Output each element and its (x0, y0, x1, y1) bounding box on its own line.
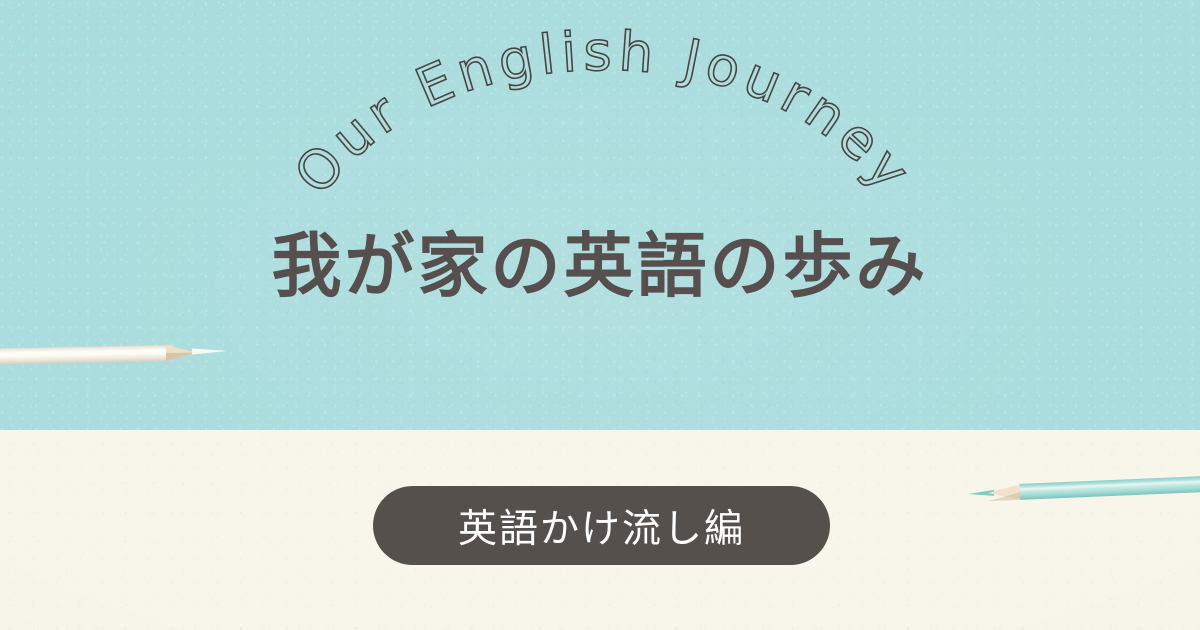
banner-canvas: Our English Journey 我が家の英語の歩み 英語かけ流し編 (0, 0, 1200, 630)
arc-headline-text: Our English Journey (282, 20, 926, 206)
arc-headline: Our English Journey (0, 42, 1200, 232)
pencil-right-wood-shadow (988, 492, 1022, 501)
category-badge-label: 英語かけ流し編 (458, 498, 745, 554)
pencil-left-tip (192, 348, 228, 355)
category-badge[interactable]: 英語かけ流し編 (373, 486, 830, 565)
page-title: 我が家の英語の歩み (0, 229, 1200, 305)
